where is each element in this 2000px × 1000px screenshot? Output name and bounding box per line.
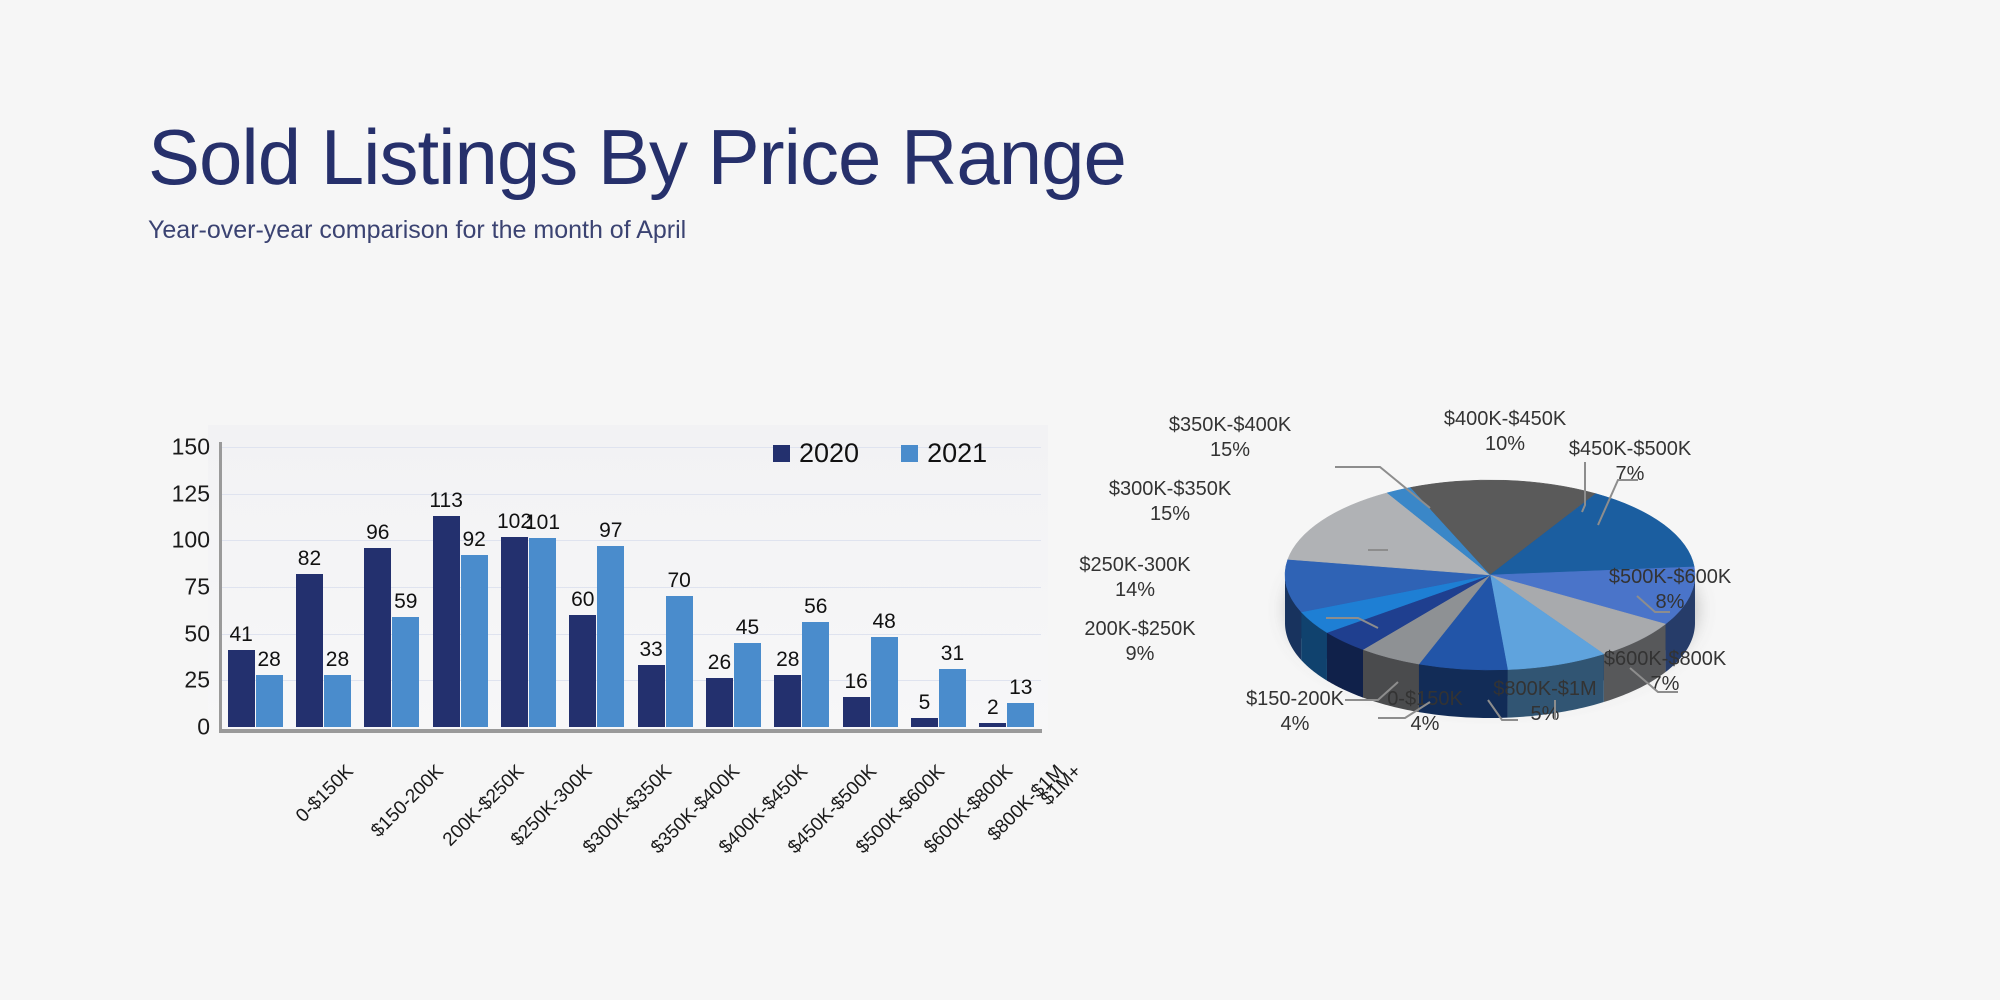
y-axis-line bbox=[219, 442, 222, 732]
bar-value-label: 48 bbox=[872, 610, 895, 634]
pie-callout-label: $150-200K4% bbox=[1246, 687, 1344, 737]
bar-group: 1648 bbox=[836, 447, 904, 727]
pie-callout-label: $400K-$450K10% bbox=[1444, 407, 1566, 457]
bar-2021[interactable]: 70 bbox=[666, 596, 693, 727]
bar-2020[interactable]: 96 bbox=[364, 548, 391, 727]
legend-label-2020: 2020 bbox=[799, 438, 859, 469]
pie-callout-percent: 9% bbox=[1084, 642, 1195, 667]
bar-2020[interactable]: 82 bbox=[296, 574, 323, 727]
bar-group: 6097 bbox=[563, 447, 631, 727]
bar-group: 2645 bbox=[699, 447, 767, 727]
bar-value-label: 82 bbox=[298, 547, 321, 571]
bar-value-label: 60 bbox=[571, 588, 594, 612]
pie-callout-percent: 10% bbox=[1444, 432, 1566, 457]
pie-callout-label: $500K-$600K8% bbox=[1609, 565, 1731, 615]
x-axis-category-label: $150-200K bbox=[367, 761, 448, 842]
bar-value-label: 13 bbox=[1009, 676, 1032, 700]
bar-2021[interactable]: 101 bbox=[529, 538, 556, 727]
bar-plot-area: 41280-$150K8228$150-200K9659200K-$250K11… bbox=[221, 447, 1041, 727]
pie-callout-name: $250K-300K bbox=[1079, 553, 1190, 578]
pie-callout-name: $350K-$400K bbox=[1169, 413, 1291, 438]
pie-callout-percent: 5% bbox=[1493, 702, 1596, 727]
bar-value-label: 92 bbox=[462, 528, 485, 552]
bar-value-label: 41 bbox=[229, 623, 252, 647]
bar-chart: 0255075100125150 41280-$150K8228$150-200… bbox=[148, 420, 1068, 850]
bar-2020[interactable]: 33 bbox=[638, 665, 665, 727]
legend-swatch-icon-2021 bbox=[901, 445, 918, 462]
y-axis-tick-label: 100 bbox=[172, 527, 210, 554]
pie-callout-name: $450K-$500K bbox=[1569, 437, 1691, 462]
bar-group: 213 bbox=[973, 447, 1041, 727]
bar-2020[interactable]: 113 bbox=[433, 516, 460, 727]
pie-callout-percent: 8% bbox=[1609, 590, 1731, 615]
bar-2020[interactable]: 102 bbox=[501, 537, 528, 727]
bar-value-label: 5 bbox=[919, 691, 931, 715]
bar-2020[interactable]: 2 bbox=[979, 723, 1006, 727]
bar-2021[interactable]: 56 bbox=[802, 622, 829, 727]
bar-group: 9659 bbox=[358, 447, 426, 727]
pie-callout-label: 0-$150K4% bbox=[1387, 687, 1463, 737]
page-title: Sold Listings By Price Range bbox=[148, 118, 1126, 196]
pie-callout-name: 0-$150K bbox=[1387, 687, 1463, 712]
page-subtitle: Year-over-year comparison for the month … bbox=[148, 216, 1126, 245]
pie-callout-label: $300K-$350K15% bbox=[1109, 477, 1231, 527]
bar-2021[interactable]: 97 bbox=[597, 546, 624, 727]
bar-2020[interactable]: 41 bbox=[228, 650, 255, 727]
pie-callout-percent: 4% bbox=[1387, 712, 1463, 737]
bar-2021[interactable]: 45 bbox=[734, 643, 761, 727]
pie-callout-percent: 7% bbox=[1569, 462, 1691, 487]
bar-2021[interactable]: 31 bbox=[939, 669, 966, 727]
bar-value-label: 113 bbox=[429, 489, 462, 513]
pie-callout-name: 200K-$250K bbox=[1084, 617, 1195, 642]
pie-callout-name: $600K-$800K bbox=[1604, 647, 1726, 672]
y-axis-tick-label: 0 bbox=[197, 714, 210, 741]
bar-2020[interactable]: 28 bbox=[774, 675, 801, 727]
y-axis-tick-label: 150 bbox=[172, 434, 210, 461]
bar-value-label: 96 bbox=[366, 521, 389, 545]
bar-2021[interactable]: 59 bbox=[392, 617, 419, 727]
bar-chart-legend: 2020 2021 bbox=[773, 438, 987, 469]
pie-callout-percent: 14% bbox=[1079, 578, 1190, 603]
y-axis-tick-label: 50 bbox=[184, 620, 210, 647]
pie-callout-percent: 15% bbox=[1109, 502, 1231, 527]
bar-group: 11392 bbox=[426, 447, 494, 727]
pie-callout-name: $800K-$1M bbox=[1493, 677, 1596, 702]
pie-chart: $350K-$400K15%$400K-$450K10%$450K-$500K7… bbox=[1130, 400, 1980, 830]
legend-swatch-icon-2020 bbox=[773, 445, 790, 462]
pie-callout-percent: 15% bbox=[1169, 438, 1291, 463]
bar-2020[interactable]: 60 bbox=[569, 615, 596, 727]
pie-callout-name: $300K-$350K bbox=[1109, 477, 1231, 502]
bar-2021[interactable]: 92 bbox=[461, 555, 488, 727]
x-axis-category-label: 0-$150K bbox=[292, 761, 358, 827]
bar-value-label: 101 bbox=[525, 511, 560, 535]
bar-value-label: 70 bbox=[667, 569, 690, 593]
bar-2021[interactable]: 48 bbox=[871, 637, 898, 727]
pie-callout-label: $350K-$400K15% bbox=[1169, 413, 1291, 463]
bar-value-label: 45 bbox=[736, 616, 759, 640]
pie-callout-label: $450K-$500K7% bbox=[1569, 437, 1691, 487]
bar-value-label: 16 bbox=[844, 670, 867, 694]
bar-value-label: 26 bbox=[708, 651, 731, 675]
pie-callout-label: $600K-$800K7% bbox=[1604, 647, 1726, 697]
bar-y-axis: 0255075100125150 bbox=[148, 447, 210, 727]
bar-value-label: 28 bbox=[776, 648, 799, 672]
legend-item-2020: 2020 bbox=[773, 438, 859, 469]
x-axis-line bbox=[219, 729, 1042, 733]
pie-callout-label: $800K-$1M5% bbox=[1493, 677, 1596, 727]
bar-value-label: 56 bbox=[804, 595, 827, 619]
bar-value-label: 33 bbox=[639, 638, 662, 662]
pie-callout-label: $250K-300K14% bbox=[1079, 553, 1190, 603]
slide-canvas: Sold Listings By Price Range Year-over-y… bbox=[0, 0, 2000, 1000]
bar-2020[interactable]: 5 bbox=[911, 718, 938, 727]
bar-2021[interactable]: 28 bbox=[324, 675, 351, 727]
bar-group: 8228 bbox=[289, 447, 357, 727]
pie-callout-percent: 7% bbox=[1604, 672, 1726, 697]
bar-group: 102101 bbox=[494, 447, 562, 727]
bar-value-label: 97 bbox=[599, 519, 622, 543]
header: Sold Listings By Price Range Year-over-y… bbox=[148, 118, 1126, 245]
bar-value-label: 59 bbox=[394, 590, 417, 614]
bar-group: 531 bbox=[904, 447, 972, 727]
legend-item-2021: 2021 bbox=[901, 438, 987, 469]
bar-2021[interactable]: 13 bbox=[1007, 703, 1034, 727]
bar-group: 3370 bbox=[631, 447, 699, 727]
legend-label-2021: 2021 bbox=[927, 438, 987, 469]
y-axis-tick-label: 25 bbox=[184, 667, 210, 694]
y-axis-tick-label: 125 bbox=[172, 480, 210, 507]
pie-callout-name: $500K-$600K bbox=[1609, 565, 1731, 590]
bar-value-label: 28 bbox=[257, 648, 280, 672]
y-axis-tick-label: 75 bbox=[184, 574, 210, 601]
bar-group: 4128 bbox=[221, 447, 289, 727]
bar-value-label: 2 bbox=[987, 696, 999, 720]
pie-callout-label: 200K-$250K9% bbox=[1084, 617, 1195, 667]
bar-group: 2856 bbox=[768, 447, 836, 727]
bar-value-label: 31 bbox=[941, 642, 964, 666]
pie-callout-name: $400K-$450K bbox=[1444, 407, 1566, 432]
pie-callout-name: $150-200K bbox=[1246, 687, 1344, 712]
pie-callout-percent: 4% bbox=[1246, 712, 1344, 737]
bar-2020[interactable]: 16 bbox=[843, 697, 870, 727]
bar-value-label: 28 bbox=[326, 648, 349, 672]
bar-2021[interactable]: 28 bbox=[256, 675, 283, 727]
bar-2020[interactable]: 26 bbox=[706, 678, 733, 727]
